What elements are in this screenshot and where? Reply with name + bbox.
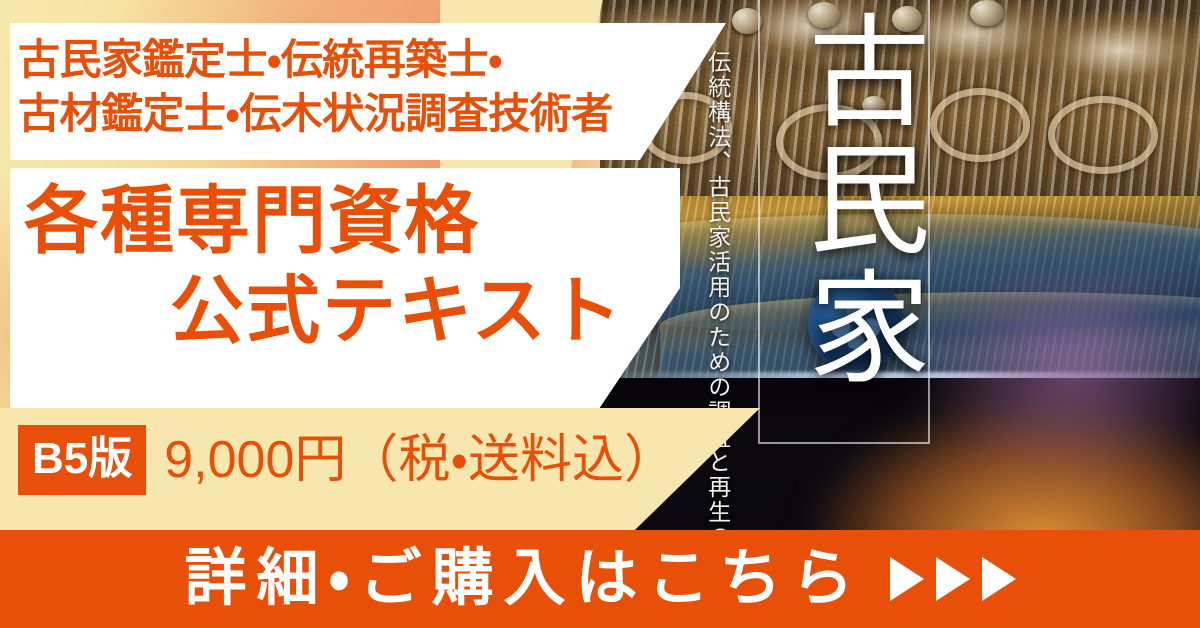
cta-label: 詳細・ご購入はこちら — [184, 548, 863, 610]
book-cover-title: 古民家 — [760, 8, 928, 392]
price-row: B5版 9,000円（税・送料込） — [18, 425, 676, 495]
wood-knob-icon — [970, 0, 1004, 26]
certification-line-2: 古材鑑定士・伝木状況調査技術者 — [18, 87, 718, 141]
triangle-right-icon — [890, 557, 924, 601]
triangle-right-icon — [982, 557, 1016, 601]
format-badge: B5版 — [18, 425, 146, 495]
headline-line-1: 各種専門資格 — [10, 176, 670, 266]
cta-arrow-group — [890, 557, 1016, 601]
promo-banner[interactable]: 伝統構法、古民家活用のための調査と再生の 古民家 古民家鑑定士・伝統再築士・ 古… — [0, 0, 1200, 628]
price-text: 9,000円（税・送料込） — [164, 434, 676, 486]
headline-line-2: 公式テキスト — [10, 266, 670, 356]
cta-bar[interactable]: 詳細・ご購入はこちら — [0, 530, 1200, 628]
certification-line-1: 古民家鑑定士・伝統再築士・ — [18, 33, 718, 87]
headline-text: 各種専門資格 公式テキスト — [10, 176, 670, 357]
certification-text: 古民家鑑定士・伝統再築士・ 古材鑑定士・伝木状況調査技術者 — [18, 33, 718, 141]
wood-curl-icon — [1048, 96, 1158, 174]
wood-curl-icon — [930, 88, 1030, 162]
triangle-right-icon — [936, 557, 970, 601]
